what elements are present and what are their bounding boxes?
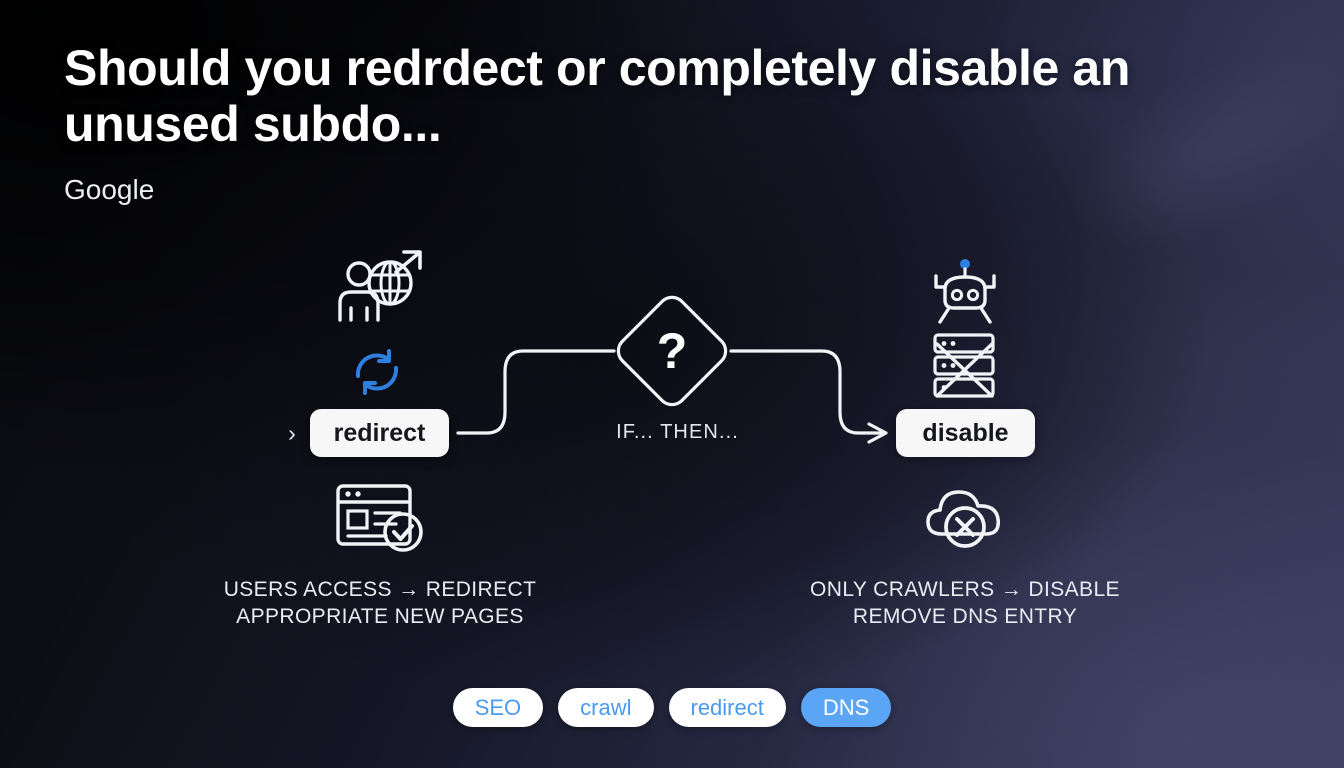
question-mark-icon: ? — [640, 316, 704, 386]
node-disable[interactable]: disable — [896, 409, 1035, 457]
caption-left: USERS ACCESS → REDIRECT APPROPRIATE NEW … — [180, 576, 580, 630]
source-label: Google — [64, 174, 1284, 206]
caption-left-line1: USERS ACCESS → REDIRECT — [180, 576, 580, 603]
slide-canvas: Should you redrdect or completely disabl… — [0, 0, 1344, 768]
user-globe-arrow-icon — [334, 248, 424, 328]
cloud-x-icon — [920, 480, 1014, 552]
crawler-bot-icon — [928, 256, 1002, 330]
decision-label: IF... THEN... — [560, 421, 795, 444]
caption-right: ONLY CRAWLERS → DISABLE REMOVE DNS ENTRY — [765, 576, 1165, 630]
tag-chip[interactable]: DNS — [801, 688, 891, 727]
tag-chip[interactable]: SEO — [453, 688, 543, 727]
caption-right-line2: REMOVE DNS ENTRY — [765, 603, 1165, 630]
tag-chip[interactable]: redirect — [669, 688, 786, 727]
tag-list: SEOcrawlredirectDNS — [0, 688, 1344, 727]
sync-refresh-icon — [348, 346, 406, 398]
node-redirect-label: redirect — [334, 419, 426, 448]
header: Should you redrdect or completely disabl… — [64, 40, 1284, 206]
browser-check-icon — [334, 482, 430, 556]
node-redirect[interactable]: redirect — [310, 409, 449, 457]
caption-right-line1: ONLY CRAWLERS → DISABLE — [765, 576, 1165, 603]
caption-left-line2: APPROPRIATE NEW PAGES — [180, 603, 580, 630]
server-disabled-icon — [928, 330, 1000, 402]
page-title: Should you redrdect or completely disabl… — [64, 40, 1284, 152]
node-disable-label: disable — [922, 419, 1008, 448]
chevron-right-icon: › — [284, 418, 300, 448]
tag-chip[interactable]: crawl — [558, 688, 653, 727]
